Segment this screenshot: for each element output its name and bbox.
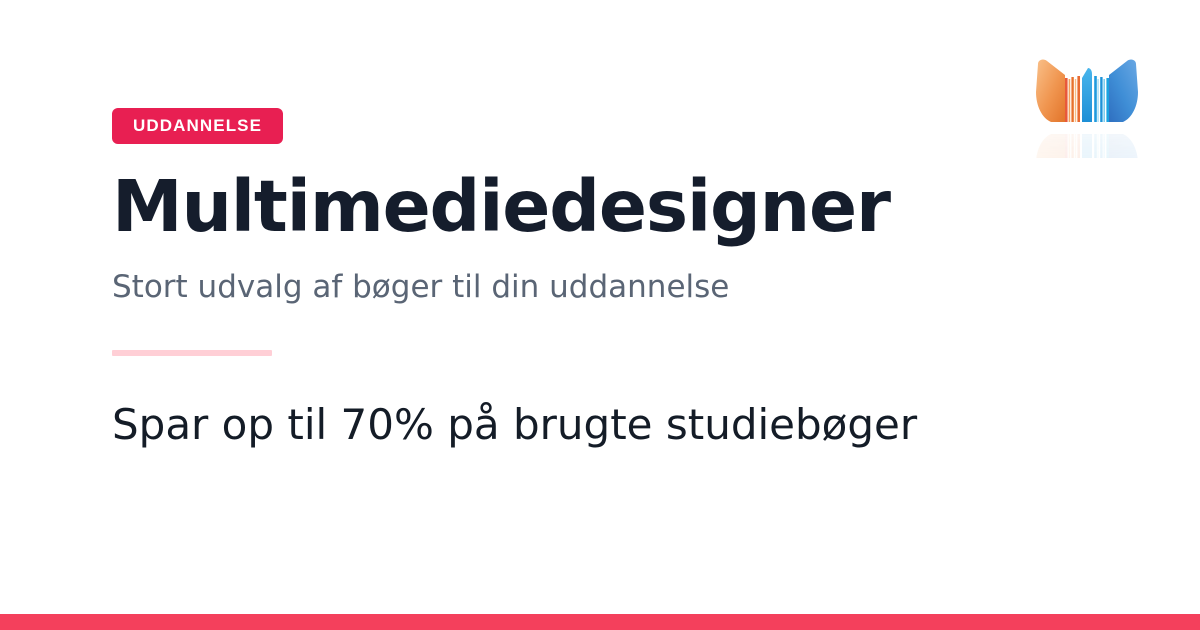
page-subtitle: Stort udvalg af bøger til din uddannelse [112, 269, 1012, 306]
og-card: UDDANNELSE Multimediedesigner Stort udva… [0, 0, 1200, 630]
category-badge[interactable]: UDDANNELSE [112, 108, 283, 144]
content-column: UDDANNELSE Multimediedesigner Stort udva… [112, 108, 1012, 450]
brand-logo [1032, 48, 1142, 158]
divider [112, 350, 272, 356]
page-title: Multimediedesigner [112, 170, 1012, 245]
badge-row: UDDANNELSE [112, 108, 1012, 144]
promo-line: Spar op til 70% på brugte studiebøger [112, 400, 1012, 450]
bottom-accent-bar [0, 614, 1200, 630]
